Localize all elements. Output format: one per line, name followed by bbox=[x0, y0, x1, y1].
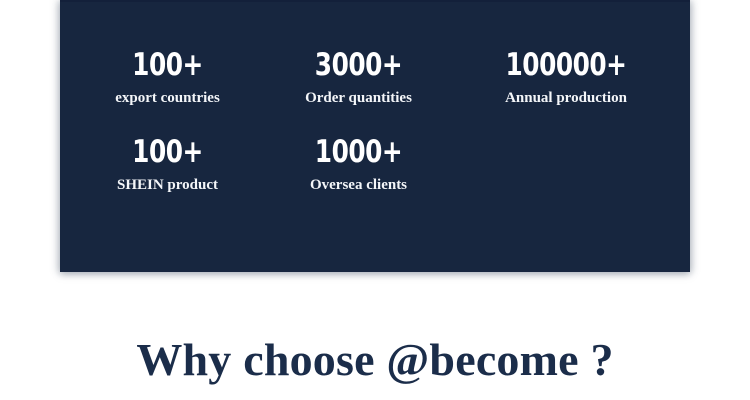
stats-row-2: 100+ SHEIN product 1000+ Oversea clients bbox=[60, 135, 690, 195]
stat-export-countries: 100+ export countries bbox=[60, 48, 275, 108]
stat-shein-product: 100+ SHEIN product bbox=[60, 135, 275, 195]
page-root: 100+ export countries 3000+ Order quanti… bbox=[0, 0, 750, 400]
stat-value: 100+ bbox=[82, 48, 254, 82]
stat-annual-production: 100000+ Annual production bbox=[442, 48, 690, 108]
stat-label: Annual production bbox=[442, 89, 690, 108]
stat-oversea-clients: 1000+ Oversea clients bbox=[275, 135, 442, 195]
stats-panel: 100+ export countries 3000+ Order quanti… bbox=[60, 0, 690, 272]
page-title: Why choose @become ? bbox=[0, 331, 750, 389]
stat-label: Order quantities bbox=[275, 89, 442, 108]
stat-label: Oversea clients bbox=[275, 176, 442, 195]
stat-value: 100+ bbox=[82, 135, 254, 169]
stat-value: 3000+ bbox=[292, 48, 426, 82]
stat-label: SHEIN product bbox=[60, 176, 275, 195]
stat-value: 100000+ bbox=[467, 48, 665, 82]
stats-grid: 100+ export countries 3000+ Order quanti… bbox=[60, 48, 690, 195]
stat-value: 1000+ bbox=[292, 135, 426, 169]
stat-order-quantities: 3000+ Order quantities bbox=[275, 48, 442, 108]
stats-row-1: 100+ export countries 3000+ Order quanti… bbox=[60, 48, 690, 108]
stat-label: export countries bbox=[60, 89, 275, 108]
